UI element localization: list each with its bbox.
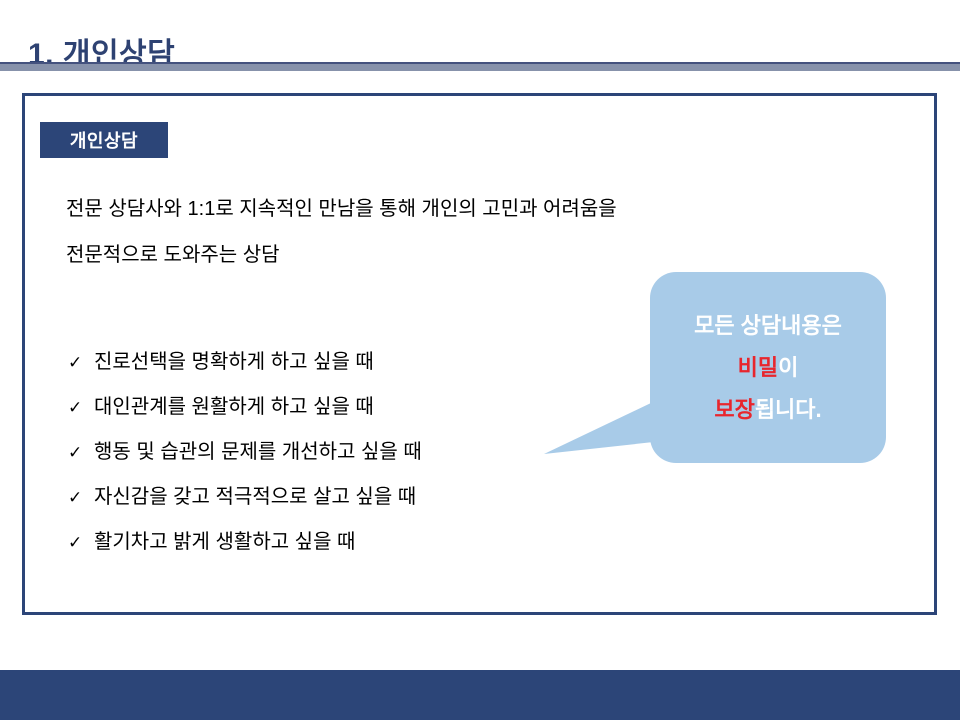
speech-bubble-callout: 모든 상담내용은 비밀이 보장됩니다. — [650, 272, 886, 463]
checklist: ✓ 진로선택을 명확하게 하고 싶을 때 ✓ 대인관계를 원활하게 하고 싶을 … — [68, 345, 422, 570]
callout-highlight-secret: 비밀 — [738, 355, 778, 380]
callout-highlight-guarantee: 보장 — [714, 397, 754, 422]
list-item-label: 자신감을 갖고 적극적으로 살고 싶을 때 — [94, 480, 416, 509]
list-item: ✓ 대인관계를 원활하게 하고 싶을 때 — [68, 390, 422, 435]
list-item-label: 진로선택을 명확하게 하고 싶을 때 — [94, 345, 374, 374]
check-icon: ✓ — [68, 354, 94, 371]
title-divider — [0, 62, 960, 71]
section-badge: 개인상담 — [40, 122, 168, 158]
description-line-1: 전문 상담사와 1:1로 지속적인 만남을 통해 개인의 고민과 어려움을 — [66, 186, 796, 232]
list-item: ✓ 진로선택을 명확하게 하고 싶을 때 — [68, 345, 422, 390]
list-item: ✓ 활기차고 밝게 생활하고 싶을 때 — [68, 525, 422, 570]
list-item: ✓ 행동 및 습관의 문제를 개선하고 싶을 때 — [68, 435, 422, 480]
callout-line-3-rest: 됩니다. — [755, 397, 822, 422]
check-icon: ✓ — [68, 399, 94, 416]
list-item-label: 활기차고 밝게 생활하고 싶을 때 — [94, 525, 355, 554]
callout-line-1: 모든 상담내용은 — [694, 305, 842, 347]
list-item: ✓ 자신감을 갖고 적극적으로 살고 싶을 때 — [68, 480, 422, 525]
check-icon: ✓ — [68, 489, 94, 506]
speech-bubble-body: 모든 상담내용은 비밀이 보장됩니다. — [650, 272, 886, 463]
check-icon: ✓ — [68, 444, 94, 461]
callout-line-3: 보장됩니다. — [714, 389, 821, 431]
callout-line-2: 비밀이 — [738, 347, 799, 389]
list-item-label: 대인관계를 원활하게 하고 싶을 때 — [94, 390, 374, 419]
slide-canvas: 1. 개인상담 개인상담 전문 상담사와 1:1로 지속적인 만남을 통해 개인… — [0, 0, 960, 720]
footer-bar — [0, 670, 960, 720]
description-block: 전문 상담사와 1:1로 지속적인 만남을 통해 개인의 고민과 어려움을 전문… — [66, 186, 796, 278]
check-icon: ✓ — [68, 534, 94, 551]
list-item-label: 행동 및 습관의 문제를 개선하고 싶을 때 — [94, 435, 422, 464]
callout-line-2-rest: 이 — [778, 355, 798, 380]
